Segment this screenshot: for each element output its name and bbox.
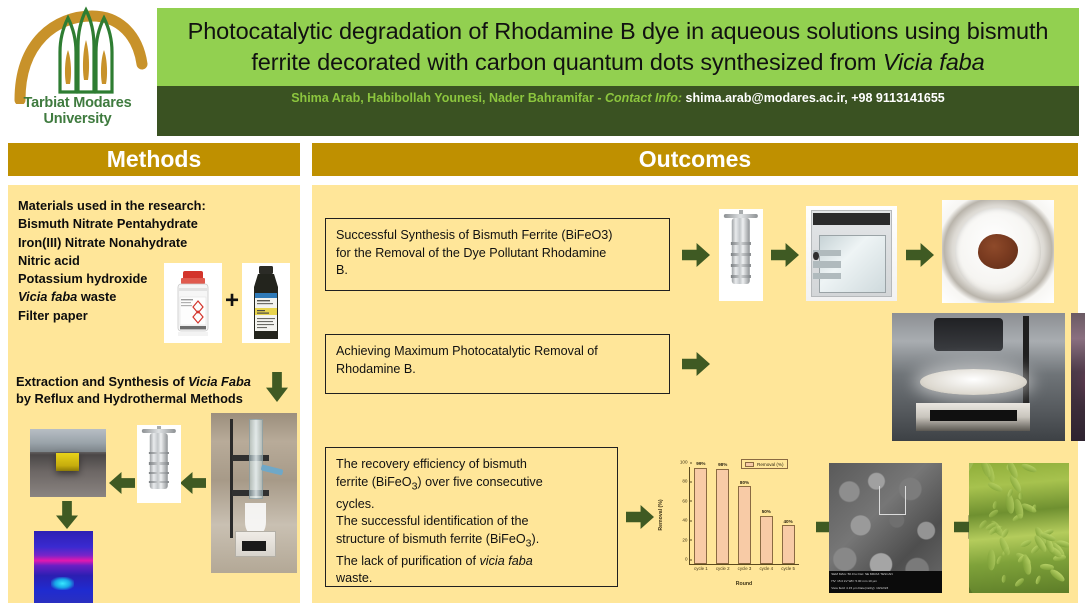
uv-fluorescence-photo — [34, 531, 93, 603]
university-logo-block: Tarbiat Modares University — [0, 0, 155, 138]
hydrothermal-autoclave-photo — [137, 425, 181, 503]
contact-info-value: shima.arab@modares.ac.ir, +98 9113141655 — [682, 91, 945, 105]
bismuth-nitrate-bottle-photo — [164, 263, 222, 343]
extraction-caption-italic: Vicia Faba — [188, 374, 251, 389]
chart-x-tick-label: cycle 1 — [694, 566, 708, 571]
poster-title-band: Photocatalytic degradation of Rhodamine … — [157, 8, 1079, 86]
vicia-faba-extract-vial-photo — [30, 429, 106, 497]
outcome-3-line-4: The successful identification of the — [336, 513, 607, 531]
hydrothermal-autoclave-photo — [719, 209, 763, 301]
photocatalysis-setup-white-light-photo — [892, 313, 1065, 441]
chart-bar: 98%cycle 2 — [716, 467, 729, 564]
bismuth-nitrate-bottle-icon — [164, 263, 222, 343]
methods-section-header: Methods — [8, 143, 300, 176]
outcome-3-line-5-a: structure of bismuth ferrite (BiFeO — [336, 532, 526, 546]
extraction-caption-part1: Extraction and Synthesis of — [16, 374, 188, 389]
arrow-extract-down-to-uv-icon — [56, 501, 78, 529]
chart-bar-value-label: 99% — [696, 461, 705, 466]
drying-oven-photo — [806, 206, 897, 301]
outcome-3-line-2-a: ferrite (BiFeO — [336, 475, 412, 489]
outcome-statement-box-2: Achieving Maximum Photocatalytic Removal… — [325, 334, 670, 394]
sem-micrograph-photo: SEM MAG: 50.0 kx Det: SE MIRA3 TESCAN HV… — [829, 463, 942, 593]
plus-icon: + — [224, 291, 240, 311]
outcomes-heading-text: Outcomes — [639, 146, 751, 173]
chart-legend-swatch — [745, 462, 754, 467]
sem-info-line-2: HV: 15.0 kV WD: 5.00 mm 10 µm — [831, 579, 877, 583]
bean-shape — [1014, 577, 1025, 588]
chart-bar: 80%cycle 3 — [738, 467, 751, 564]
methods-heading-text: Methods — [107, 146, 202, 173]
bifeo3-powder-dish-photo — [942, 200, 1054, 303]
arrow-box2-to-setup-icon — [682, 352, 710, 376]
outcome-3-line-5-b: ). — [532, 532, 540, 546]
outcome-3-line-2-b: ) over five consecutive — [417, 475, 542, 489]
outcome-statement-box-1: Successful Synthesis of Bismuth Ferrite … — [325, 218, 670, 291]
sem-info-line-3: View field: 4.15 µm Date(m/d/y): 10/12/2… — [831, 586, 888, 590]
chart-plot-area: 02040608010099%cycle 198%cycle 280%cycle… — [689, 467, 799, 565]
outcome-3-line-7: waste. — [336, 570, 607, 588]
chart-bar-value-label: 80% — [740, 480, 749, 485]
page-title: Photocatalytic degradation of Rhodamine … — [157, 16, 1079, 78]
chart-bar-rect — [716, 469, 729, 564]
arrow-reflux-to-autoclave-icon — [180, 472, 206, 494]
arrow-autoclave-to-oven-icon — [771, 243, 799, 267]
arrow-box3-to-chart-icon — [626, 505, 654, 529]
ferric-nitrate-bottle-photo — [242, 263, 290, 343]
chart-y-axis-title: Removal (%) — [658, 499, 664, 530]
chart-bar: 50%cycle 4 — [760, 467, 773, 564]
chart-bar: 99%cycle 1 — [694, 467, 707, 564]
logo-line-1: Tarbiat Modares — [0, 96, 155, 112]
ferric-nitrate-bottle-icon — [242, 263, 290, 343]
outcome-3-line-6-a: The lack of purification of — [336, 554, 480, 568]
outcome-statement-box-3: The recovery efficiency of bismuth ferri… — [325, 447, 618, 587]
chart-legend-label: Removal (%) — [757, 462, 784, 467]
contact-info-label: Contact Info: — [605, 91, 682, 105]
chart-y-tick: 80 — [682, 479, 690, 484]
outcome-3-line-5: structure of bismuth ferrite (BiFeO3). — [336, 531, 607, 553]
extraction-caption-part2: by Reflux and Hydrothermal Methods — [16, 391, 243, 406]
outcome-1-line-2: for the Removal of the Dye Pollutant Rho… — [336, 245, 659, 263]
vicia-faba-suffix: waste — [77, 289, 116, 304]
sem-info-bar: SEM MAG: 50.0 kx Det: SE MIRA3 TESCAN HV… — [829, 571, 942, 593]
extraction-synthesis-caption: Extraction and Synthesis of Vicia Faba b… — [16, 373, 266, 407]
chart-y-tick: 100 — [680, 460, 690, 465]
chart-x-tick-label: cycle 2 — [716, 566, 730, 571]
material-item: Bismuth Nitrate Pentahydrate — [18, 215, 178, 233]
bean-shape — [995, 555, 1003, 565]
author-contact-band: Shima Arab, Habibollah Younesi, Nader Ba… — [157, 86, 1079, 136]
chart-legend: Removal (%) — [741, 459, 788, 469]
chart-bar-value-label: 40% — [783, 519, 792, 524]
university-logo-text: Tarbiat Modares University — [0, 96, 155, 127]
bean-shape — [987, 481, 1004, 494]
chart-x-tick-label: cycle 4 — [759, 566, 773, 571]
outcome-3-italic-species: vicia faba — [480, 554, 533, 568]
outcome-3-line-2: ferrite (BiFeO3) over five consecutive — [336, 474, 607, 496]
outcome-3-line-6: The lack of purification of vicia faba — [336, 553, 607, 571]
outcome-3-line-1: The recovery efficiency of bismuth — [336, 456, 607, 474]
author-line: Shima Arab, Habibollah Younesi, Nader Ba… — [291, 91, 945, 105]
chart-bar-rect — [760, 516, 773, 565]
title-italic-species: Vicia faba — [883, 49, 985, 75]
chart-bar-rect — [694, 468, 707, 564]
bean-shape — [1019, 492, 1023, 499]
outcomes-section-body: Successful Synthesis of Bismuth Ferrite … — [312, 185, 1078, 603]
bean-shape — [1019, 539, 1032, 549]
arrow-oven-to-powder-icon — [906, 243, 934, 267]
chart-bar-value-label: 50% — [762, 509, 771, 514]
arrow-caption-down-icon — [266, 372, 288, 402]
tarbiat-modares-university-logo-icon — [8, 6, 148, 104]
vicia-faba-italic: Vicia faba — [18, 289, 77, 304]
chart-x-axis-title: Round — [689, 581, 799, 587]
chart-y-tick: 20 — [682, 537, 690, 542]
photocatalysis-setup-visible-light-photo — [1071, 313, 1085, 441]
bean-shape — [988, 550, 996, 571]
chemical-bottles-group: + — [158, 263, 298, 343]
outcome-2-line-1: Achieving Maximum Photocatalytic Removal… — [336, 343, 659, 361]
outcome-1-line-3: B. — [336, 262, 659, 280]
bean-shape — [998, 537, 1012, 557]
chart-bar-rect — [738, 486, 751, 564]
chart-bar-rect — [782, 525, 795, 564]
chart-x-tick-label: cycle 3 — [738, 566, 752, 571]
sem-info-line-1: SEM MAG: 50.0 kx Det: SE MIRA3 TESCAN — [831, 572, 893, 576]
chart-y-tick: 60 — [682, 498, 690, 503]
arrow-autoclave-to-extract-icon — [109, 472, 135, 494]
author-names: Shima Arab, Habibollah Younesi, Nader Ba… — [291, 91, 594, 105]
bean-shape — [1001, 575, 1006, 583]
chart-bar-value-label: 98% — [718, 462, 727, 467]
chart-x-tick-label: cycle 5 — [781, 566, 795, 571]
materials-list: Materials used in the research: Bismuth … — [18, 197, 178, 325]
poster-canvas: Tarbiat Modares University Photocatalyti… — [0, 0, 1085, 610]
bean-shape — [992, 500, 998, 509]
bean-shape — [987, 509, 999, 520]
bean-shape — [1035, 575, 1042, 585]
reflux-apparatus-photo — [211, 413, 297, 573]
outcome-2-line-2: Rhodamine B. — [336, 361, 659, 379]
chart-bar: 40%cycle 5 — [782, 467, 795, 564]
bean-shape — [1022, 555, 1034, 576]
material-item: Nitric acid — [18, 252, 178, 270]
outcome-3-line-3: cycles. — [336, 496, 607, 514]
arrow-box1-to-autoclave-icon — [682, 243, 710, 267]
vicia-faba-beans-photo — [969, 463, 1069, 593]
logo-line-2: University — [0, 112, 155, 128]
recovery-efficiency-bar-chart: Removal (%) 02040608010099%cycle 198%cyc… — [657, 453, 812, 603]
materials-title: Materials used in the research: — [18, 197, 178, 215]
bean-shape — [1049, 568, 1066, 584]
material-item: Filter paper — [18, 307, 178, 325]
chart-y-tick: 0 — [685, 557, 690, 562]
bean-shape — [1020, 463, 1037, 474]
chart-y-tick: 40 — [682, 518, 690, 523]
material-item: Iron(III) Nitrate Nonahydrate — [18, 234, 178, 252]
methods-section-body: Materials used in the research: Bismuth … — [8, 185, 300, 603]
contact-separator: - — [594, 91, 605, 105]
outcomes-section-header: Outcomes — [312, 143, 1078, 176]
outcome-1-line-1: Successful Synthesis of Bismuth Ferrite … — [336, 227, 659, 245]
material-item: Potassium hydroxide — [18, 270, 178, 288]
material-item-vicia-faba: Vicia faba waste — [18, 288, 178, 306]
